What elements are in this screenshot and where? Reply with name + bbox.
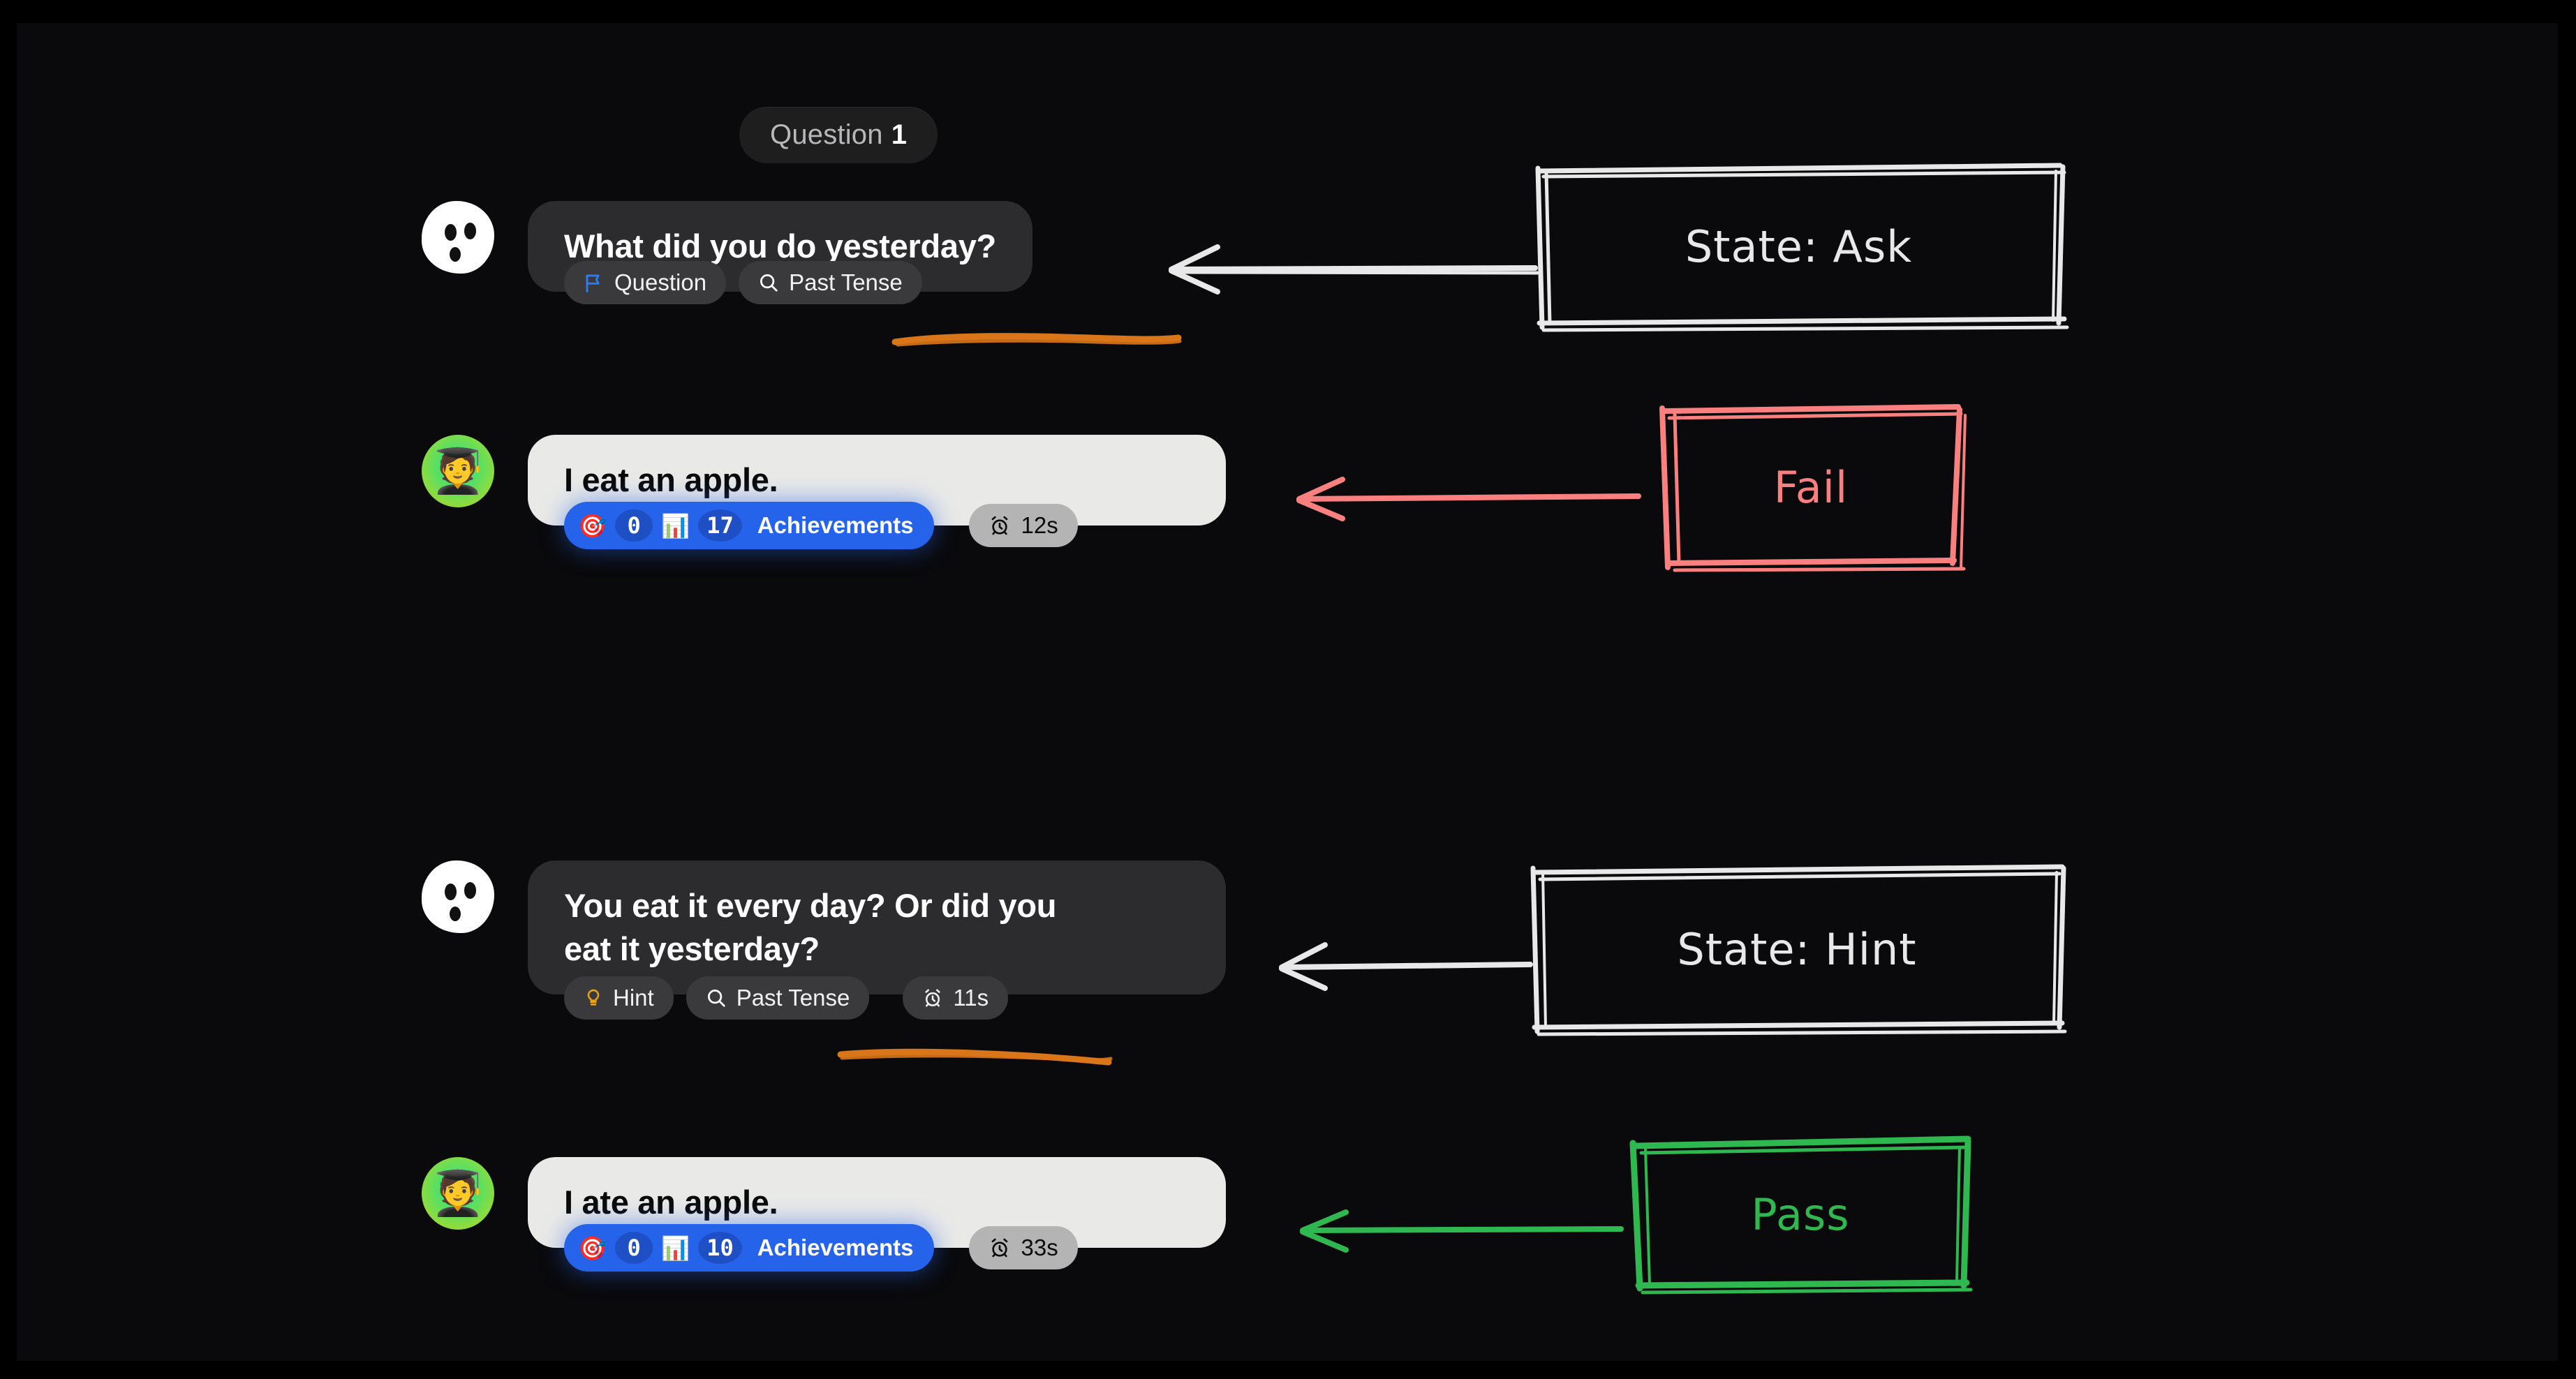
assistant-message-bubble: You eat it every day? Or did you eat it … — [528, 860, 1226, 994]
bubble-wrapper: I ate an apple. 🎯 0 📊 10 Achievements — [528, 1157, 1226, 1248]
chart-count: 10 — [698, 1232, 742, 1264]
screenshot-root: Question 1 What did you do yesterday? — [0, 0, 2576, 1379]
bubble-wrapper: I eat an apple. 🎯 0 📊 17 Achievements — [528, 435, 1226, 525]
graduate-emoji-icon: 🧑‍🎓 — [431, 449, 484, 493]
student-avatar: 🧑‍🎓 — [422, 1157, 494, 1230]
left-arrow-white-ask — [1155, 229, 1546, 309]
chip-label: Hint — [613, 985, 654, 1011]
chip-question[interactable]: Question — [564, 261, 726, 304]
message-chip-strip: Hint Past Tense — [564, 976, 1008, 1020]
chart-count: 17 — [698, 509, 742, 542]
message-row-user-pass: 🧑‍🎓 I ate an apple. 🎯 0 📊 10 Achievement… — [422, 1157, 1226, 1248]
timer-chip: 11s — [903, 976, 1008, 1020]
left-arrow-red-fail — [1284, 463, 1647, 536]
achievements-badge[interactable]: 🎯 0 📊 10 Achievements — [564, 1224, 934, 1272]
timer-chip: 12s — [969, 504, 1077, 547]
student-avatar: 🧑‍🎓 — [422, 435, 494, 507]
orange-underline-annotation — [835, 1041, 1114, 1075]
alarm-clock-icon — [922, 987, 943, 1008]
annotation-pass: Pass — [1626, 1129, 1975, 1300]
ghost-eye-right-icon — [464, 882, 476, 899]
annotation-state-hint: State: Hint — [1525, 857, 2069, 1042]
target-emoji-icon: 🎯 — [578, 514, 607, 537]
search-icon — [758, 272, 779, 293]
chip-hint[interactable]: Hint — [564, 976, 674, 1020]
alarm-clock-icon — [989, 1237, 1011, 1259]
achievements-label: Achievements — [757, 512, 914, 539]
message-chip-strip: Question Past Tense — [564, 261, 922, 304]
bubble-wrapper: You eat it every day? Or did you eat it … — [528, 860, 1226, 994]
alarm-clock-icon — [989, 514, 1011, 537]
left-arrow-white-hint — [1266, 927, 1539, 1007]
message-text: I ate an apple. — [564, 1181, 1190, 1224]
target-count: 0 — [615, 509, 653, 542]
message-chip-strip: 🎯 0 📊 17 Achievements — [564, 502, 1078, 549]
chip-label: Question — [614, 269, 706, 296]
message-row-user-fail: 🧑‍🎓 I eat an apple. 🎯 0 📊 17 Achievement… — [422, 435, 1226, 525]
annotation-fail: Fail — [1654, 393, 1968, 581]
bar-chart-emoji-icon: 📊 — [661, 514, 690, 537]
search-icon — [706, 987, 727, 1008]
timer-label: 33s — [1021, 1235, 1058, 1261]
achievements-label: Achievements — [757, 1235, 914, 1261]
ghost-mouth-icon — [450, 907, 461, 921]
ghost-eye-right-icon — [464, 223, 476, 239]
chip-label: Past Tense — [736, 985, 850, 1011]
flag-icon — [584, 271, 605, 295]
left-arrow-green-pass — [1287, 1195, 1629, 1269]
graduate-emoji-icon: 🧑‍🎓 — [431, 1172, 484, 1215]
orange-underline-annotation — [891, 327, 1184, 358]
ghost-avatar — [422, 860, 494, 933]
timer-label: 11s — [953, 985, 989, 1011]
target-emoji-icon: 🎯 — [578, 1237, 607, 1260]
chip-past-tense[interactable]: Past Tense — [686, 976, 870, 1020]
timer-label: 12s — [1021, 512, 1058, 539]
annotation-state-ask: State: Ask — [1528, 156, 2069, 337]
achievements-badge[interactable]: 🎯 0 📊 17 Achievements — [564, 502, 934, 549]
ghost-mouth-icon — [450, 247, 461, 262]
message-chip-strip: 🎯 0 📊 10 Achievements — [564, 1224, 1078, 1272]
message-text: I eat an apple. — [564, 459, 1190, 502]
timer-chip: 33s — [969, 1226, 1077, 1269]
chip-label: Past Tense — [789, 269, 903, 296]
question-number: 1 — [891, 119, 907, 151]
message-row-assistant-ask: What did you do yesterday? Question — [422, 201, 1032, 292]
question-counter-pill: Question 1 — [739, 107, 938, 163]
app-canvas: Question 1 What did you do yesterday? — [17, 23, 2558, 1361]
chip-past-tense[interactable]: Past Tense — [739, 261, 922, 304]
target-count: 0 — [615, 1232, 653, 1264]
question-label: Question — [770, 119, 883, 151]
message-row-assistant-hint: You eat it every day? Or did you eat it … — [422, 860, 1226, 994]
bubble-wrapper: What did you do yesterday? Question — [528, 201, 1032, 292]
ghost-eye-left-icon — [445, 884, 457, 900]
ghost-avatar — [422, 201, 494, 274]
lightbulb-icon — [584, 986, 603, 1010]
message-text: You eat it every day? Or did you eat it … — [564, 884, 1190, 971]
ghost-eye-left-icon — [445, 224, 457, 241]
bar-chart-emoji-icon: 📊 — [661, 1237, 690, 1260]
